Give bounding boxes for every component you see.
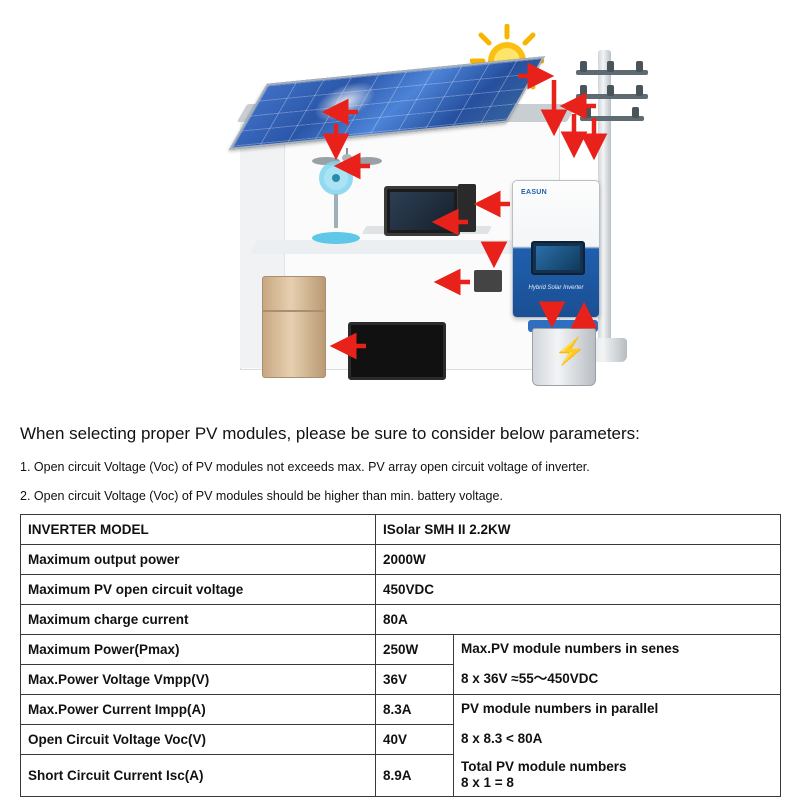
hybrid-solar-inverter: EASUN Hybrid Solar Inverter <box>512 180 600 318</box>
cell-value: 36V <box>376 665 454 695</box>
cell-value: 8.9A <box>376 755 454 797</box>
cell-inverter-model-value: ISolar SMH II 2.2KW <box>376 515 781 545</box>
note-line-1: 1. Open circuit Voltage (Voc) of PV modu… <box>20 460 780 474</box>
pole-insulator <box>636 61 643 72</box>
total-modules-value: 8 x 1 = 8 <box>461 775 773 792</box>
pole-insulator <box>607 85 614 96</box>
page-root: EASUN Hybrid Solar Inverter ⚡ <box>0 0 800 800</box>
table-row: Open Circuit Voltage Voc(V) 40V 8 x 8.3 … <box>21 725 781 755</box>
pedestal-fan-base <box>312 232 360 244</box>
cell-label: Maximum output power <box>21 545 376 575</box>
pole-insulator <box>584 107 591 118</box>
total-modules-label: Total PV module numbers <box>461 759 773 776</box>
inverter-brand-logo: EASUN <box>521 189 547 196</box>
table-row: Maximum charge current 80A <box>21 605 781 635</box>
pole-insulator <box>636 85 643 96</box>
inverter-lcd-display <box>531 241 585 275</box>
cell-inverter-model-label: INVERTER MODEL <box>21 515 376 545</box>
cell-label: Max.Power Voltage Vmpp(V) <box>21 665 376 695</box>
inverter-caption: Hybrid Solar Inverter <box>513 285 599 291</box>
cell-label: Maximum PV open circuit voltage <box>21 575 376 605</box>
cell-label: Maximum charge current <box>21 605 376 635</box>
table-row: Max.Power Voltage Vmpp(V) 36V 8 x 36V ≈5… <box>21 665 781 695</box>
pole-insulator <box>632 107 639 118</box>
table-row-header: INVERTER MODEL ISolar SMH II 2.2KW <box>21 515 781 545</box>
pole-insulator <box>580 85 587 96</box>
cell-extra: 8 x 36V ≈55〜450VDC <box>454 665 781 695</box>
cell-extra: Max.PV module numbers in senes <box>454 635 781 665</box>
table-row: Maximum PV open circuit voltage 450VDC <box>21 575 781 605</box>
table-row: Max.Power Current Impp(A) 8.3A PV module… <box>21 695 781 725</box>
solar-home-system-illustration: EASUN Hybrid Solar Inverter ⚡ <box>18 8 782 408</box>
cell-label: Maximum Power(Pmax) <box>21 635 376 665</box>
cell-value: 40V <box>376 725 454 755</box>
table-row: Short Circuit Current Isc(A) 8.9A Total … <box>21 755 781 797</box>
note-line-2: 2. Open circuit Voltage (Voc) of PV modu… <box>20 489 780 503</box>
cell-value: 250W <box>376 635 454 665</box>
cell-value: 80A <box>376 605 781 635</box>
pedestal-fan-icon <box>314 158 352 196</box>
intro-text: When selecting proper PV modules, please… <box>20 424 780 444</box>
table-row: Maximum Power(Pmax) 250W Max.PV module n… <box>21 635 781 665</box>
lightning-bolt-icon: ⚡ <box>554 338 586 364</box>
lcd-screen <box>536 246 580 270</box>
table-row: Maximum output power 2000W <box>21 545 781 575</box>
inverter-spec-table: INVERTER MODEL ISolar SMH II 2.2KW Maxim… <box>20 514 781 797</box>
cell-extra: PV module numbers in parallel <box>454 695 781 725</box>
cell-label: Open Circuit Voltage Voc(V) <box>21 725 376 755</box>
cell-value: 2000W <box>376 545 781 575</box>
cell-extra: 8 x 8.3 < 80A <box>454 725 781 755</box>
refrigerator-icon <box>262 276 326 378</box>
wall-socket-icon <box>474 270 502 292</box>
refrigerator-door-divider <box>262 310 324 312</box>
computer-monitor-icon <box>384 186 460 236</box>
cell-extra: Total PV module numbers 8 x 1 = 8 <box>454 755 781 797</box>
pole-insulator <box>607 61 614 72</box>
cell-label: Short Circuit Current Isc(A) <box>21 755 376 797</box>
pole-insulator <box>580 61 587 72</box>
computer-tower-icon <box>458 184 476 232</box>
television-icon <box>348 322 446 380</box>
cell-label: Max.Power Current Impp(A) <box>21 695 376 725</box>
monitor-screen <box>390 192 454 230</box>
cell-value: 8.3A <box>376 695 454 725</box>
cell-value: 450VDC <box>376 575 781 605</box>
